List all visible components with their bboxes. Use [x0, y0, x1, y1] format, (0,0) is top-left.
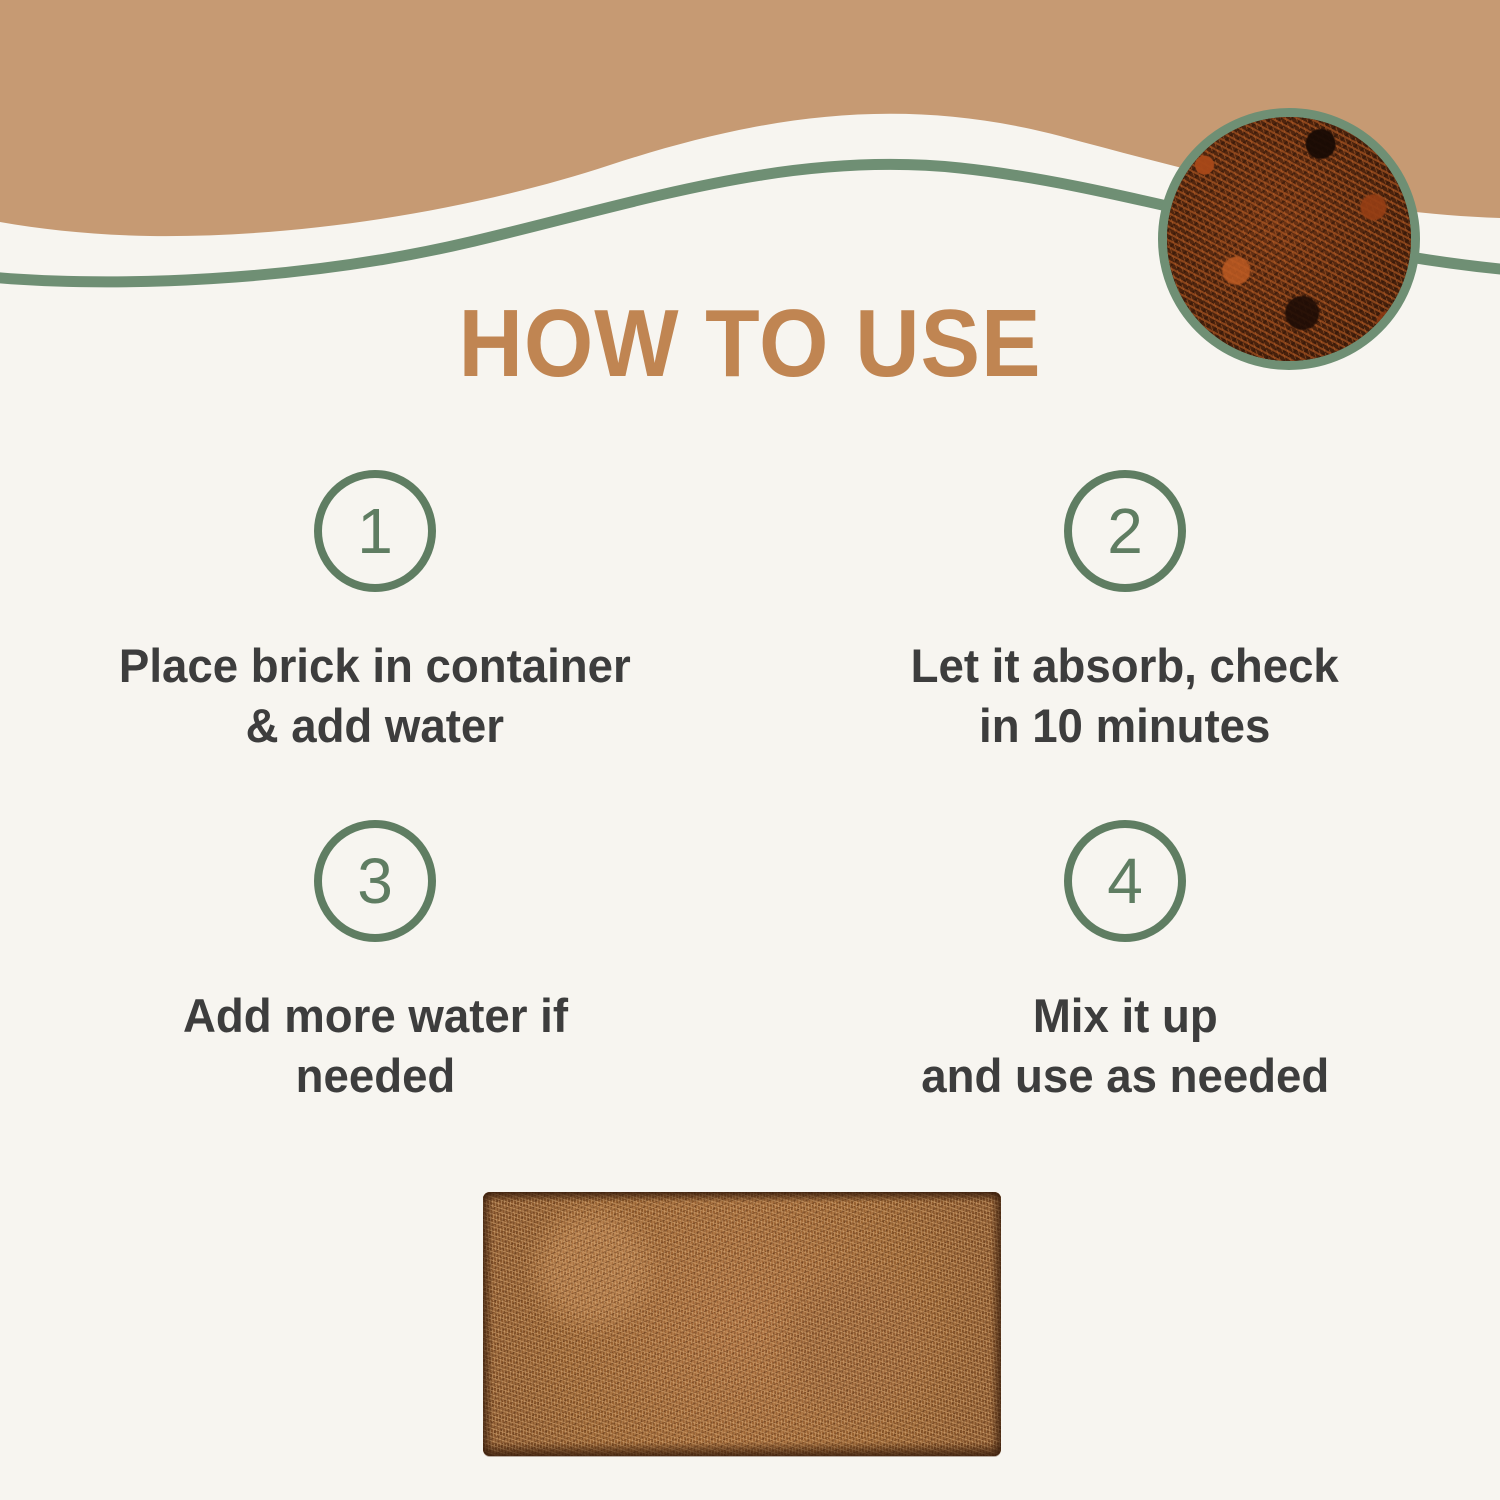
- brick-edge-bottom: [483, 1442, 1001, 1456]
- step-number-badge-1: 1: [314, 470, 436, 592]
- step-item-1: 1 Place brick in container & add water: [0, 470, 750, 820]
- step-text-2: Let it absorb, check in 10 minutes: [911, 636, 1339, 756]
- coir-brick-texture: [483, 1192, 1001, 1456]
- step-text-4: Mix it up and use as needed: [921, 986, 1329, 1106]
- step-item-4: 4 Mix it up and use as needed: [750, 820, 1500, 1170]
- step-item-3: 3 Add more water if needed: [0, 820, 750, 1170]
- brick-edge-top: [483, 1192, 1001, 1202]
- brick-edge-right: [991, 1192, 1001, 1456]
- step-number-badge-3: 3: [314, 820, 436, 942]
- step-text-1: Place brick in container & add water: [119, 636, 631, 756]
- step-number-badge-4: 4: [1064, 820, 1186, 942]
- infographic-canvas: HOW TO USE 1 Place brick in container & …: [0, 0, 1500, 1500]
- brick-edge-left: [483, 1192, 493, 1456]
- steps-grid: 1 Place brick in container & add water 2…: [0, 470, 1500, 1170]
- step-item-2: 2 Let it absorb, check in 10 minutes: [750, 470, 1500, 820]
- coco-coir-brick-image: [483, 1192, 1001, 1456]
- step-number-badge-2: 2: [1064, 470, 1186, 592]
- page-title: HOW TO USE: [53, 296, 1448, 392]
- step-text-3: Add more water if needed: [182, 986, 567, 1106]
